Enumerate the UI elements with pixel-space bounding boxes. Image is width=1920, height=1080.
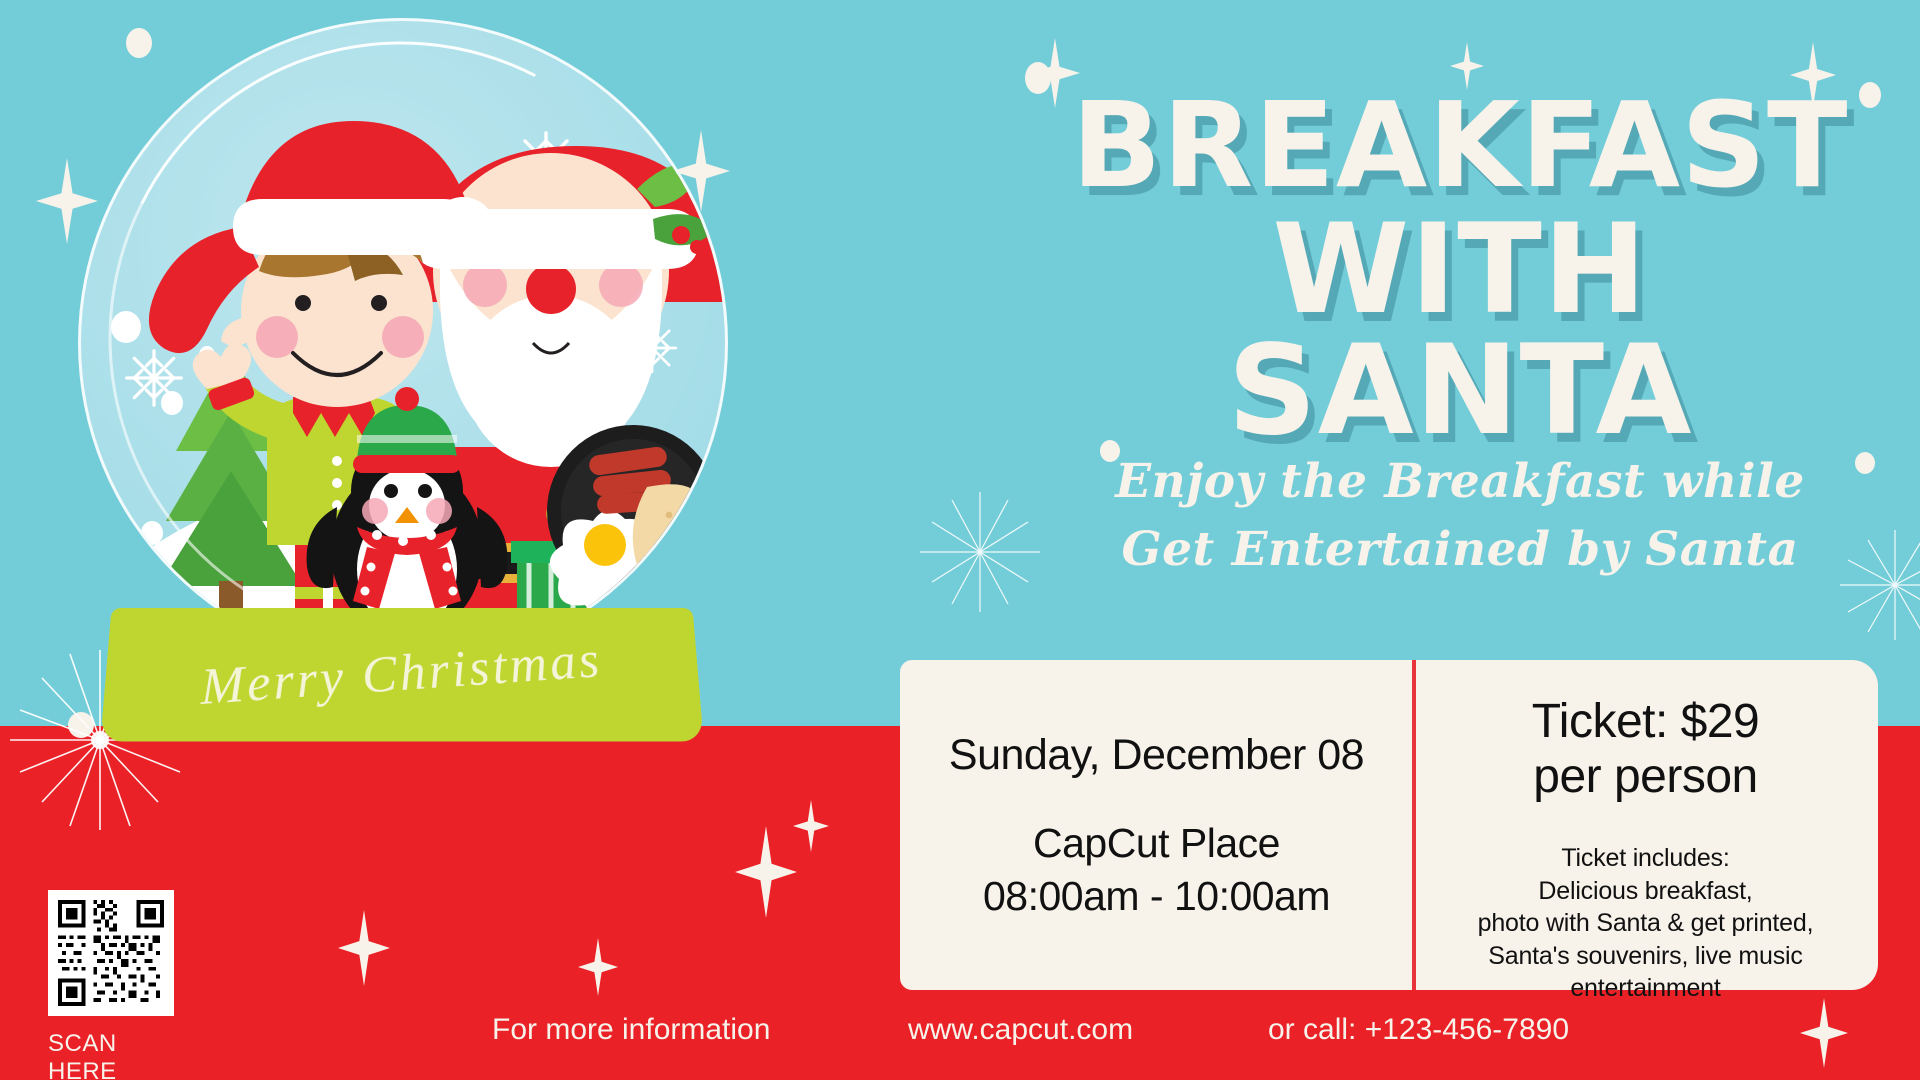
subtitle-block: Enjoy the Breakfast while Get Entertaine… [1040,448,1880,584]
ticket-includes-line: photo with Santa & get printed, [1478,907,1814,940]
panel-vertical-divider [1412,660,1416,990]
ticket-includes-line: Ticket includes: [1478,842,1814,875]
headline-block: BREAKFAST WITH SANTA [1040,88,1880,453]
globe-glass [78,18,728,668]
globe-base: Merry Christmas [100,608,703,742]
ticket-includes-line: Santa's souvenirs, live music [1478,940,1814,973]
event-venue: CapCut Place [1033,820,1280,867]
subtitle-line-1: Enjoy the Breakfast while [1040,448,1880,516]
qr-label: SCAN HERE [48,1030,188,1080]
merry-christmas-text: Merry Christmas [200,631,605,717]
footer-phone[interactable]: or call: +123-456-7890 [1268,1013,1569,1047]
ticket-includes-list: Ticket includes: Delicious breakfast, ph… [1478,842,1814,1005]
event-time: 08:00am - 10:00am [983,873,1330,920]
ticket-price: Ticket: $29 per person [1532,694,1760,804]
ticket-includes-line: Delicious breakfast, [1478,875,1814,908]
ticket-price-line-1: Ticket: $29 [1532,694,1760,749]
footer-website[interactable]: www.capcut.com [908,1013,1133,1047]
event-details-panel: Sunday, December 08 CapCut Place 08:00am… [900,660,1413,990]
footer-more-info: For more information [492,1013,770,1047]
qr-block[interactable]: SCAN HERE [48,890,188,1080]
snow-globe-illustration: Merry Christmas [78,18,728,828]
event-date: Sunday, December 08 [949,731,1364,780]
ticket-panel: Ticket: $29 per person Ticket includes: … [1413,660,1878,990]
subtitle-line-2: Get Entertained by Santa [1040,516,1880,584]
ticket-includes-line: entertainment [1478,972,1814,1005]
headline-line-2: WITH SANTA [1040,210,1880,453]
headline-line-1: BREAKFAST [1040,88,1880,204]
qr-code[interactable] [48,890,174,1016]
ticket-price-line-2: per person [1532,749,1760,804]
flyer-canvas: Merry Christmas BREAKFAST WITH SANTA Enj… [0,0,1920,1080]
